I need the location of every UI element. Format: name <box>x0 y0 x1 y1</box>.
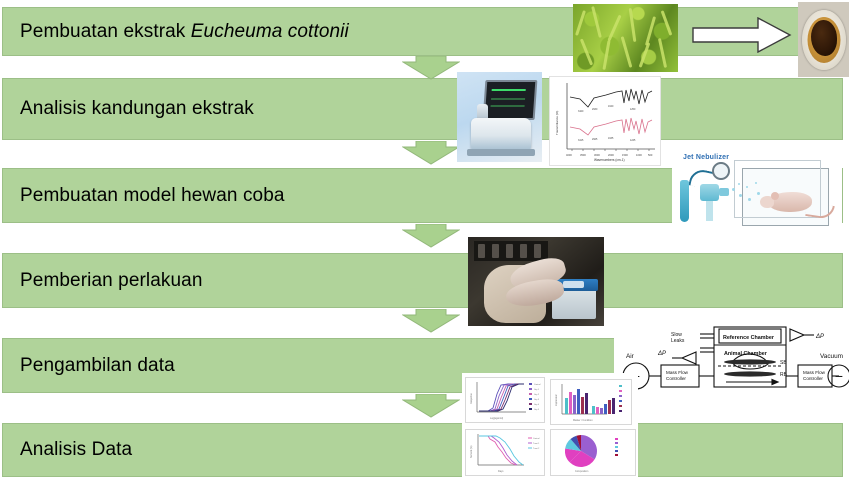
svg-text:1500: 1500 <box>622 153 628 157</box>
flow-step-1-label: Pembuatan ekstrak Eucheuma cottonii <box>3 21 349 43</box>
down-arrow-icon <box>402 141 460 165</box>
svg-text:3415: 3415 <box>578 139 584 142</box>
svg-text:1250: 1250 <box>630 108 636 111</box>
svg-text:1640: 1640 <box>608 105 614 108</box>
svg-text:2930: 2930 <box>592 108 598 111</box>
jet-nebulizer-label: Jet Nebulizer <box>683 154 729 161</box>
crude-extract-in-dish-photo <box>798 2 849 77</box>
svg-text:3000: 3000 <box>594 153 600 157</box>
svg-text:Survival (%): Survival (%) <box>470 445 473 458</box>
svg-text:4000: 4000 <box>566 153 572 157</box>
svg-text:Grp 5: Grp 5 <box>534 409 540 411</box>
vacuum-minus-sign: − <box>835 368 843 384</box>
vacuum-label: Vacuum <box>820 353 843 360</box>
flow-step-5-label: Pengambilan data <box>3 355 175 377</box>
svg-text:Days: Days <box>498 470 504 473</box>
flow-step-6[interactable]: Analisis Data <box>2 423 843 477</box>
whole-body-plethysmography-schematic: + − Air Vacuum Mass Flow Controller Mass… <box>614 318 849 402</box>
dose-response-sigmoid-curves: ControlGrp 1Grp 2 Grp 3Grp 4Grp 5 Respon… <box>465 377 545 423</box>
svg-text:Grp 2: Grp 2 <box>534 394 540 396</box>
svg-text:Response: Response <box>470 393 473 404</box>
reference-chamber-label: Reference Chamber <box>723 335 775 341</box>
svg-text:Grp 3: Grp 3 <box>534 399 540 401</box>
svg-text:Transmittance (%): Transmittance (%) <box>555 111 559 135</box>
svg-text:Control: Control <box>534 383 541 386</box>
ftir-spectrum-chart: 342029301640 341529251635 12501245 Trans… <box>549 76 661 166</box>
delta-p-right-label: ΔP <box>815 334 824 340</box>
svg-text:1000: 1000 <box>636 153 642 157</box>
animal-chamber-label: Animal Chamber <box>724 351 768 357</box>
flow-step-2[interactable]: Analisis kandungan ekstrak <box>2 78 843 140</box>
grouped-bar-comparison: Expression Marker / Condition <box>550 379 632 425</box>
flow-step-2-label: Analisis kandungan ekstrak <box>3 98 254 120</box>
svg-text:Treat 2: Treat 2 <box>533 447 540 450</box>
svg-text:Marker / Condition: Marker / Condition <box>573 419 593 422</box>
flow-step-6-label: Analisis Data <box>3 439 132 461</box>
svg-text:Controller: Controller <box>666 376 686 381</box>
gloved-hand-holding-mouse-photo <box>468 237 604 326</box>
svg-text:2925: 2925 <box>592 138 598 141</box>
right-arrow-icon <box>692 17 792 53</box>
delta-p-left-label: ΔP <box>657 351 666 357</box>
results-charts-collage: ControlGrp 1Grp 2 Grp 3Grp 4Grp 5 Respon… <box>462 373 638 477</box>
svg-text:Log[agonist]: Log[agonist] <box>490 417 503 420</box>
eucheuma-cottonii-seaweed-photo <box>573 4 678 72</box>
svg-text:Leaks: Leaks <box>671 338 685 344</box>
svg-text:Expression: Expression <box>555 394 558 406</box>
composition-pie-chart: Composition <box>550 429 636 476</box>
svg-text:1635: 1635 <box>608 137 614 140</box>
flow-step-4[interactable]: Pemberian perlakuan <box>2 253 843 308</box>
svg-text:Grp 4: Grp 4 <box>534 404 540 406</box>
mass-flow-controller-right-label: Mass Flow <box>803 370 826 375</box>
mass-flow-controller-left-label: Mass Flow <box>666 370 689 375</box>
pressure-gauge-icon <box>712 162 730 180</box>
svg-text:Controller: Controller <box>803 376 823 381</box>
svg-text:Wavenumbers (cm-1): Wavenumbers (cm-1) <box>594 158 625 162</box>
svg-text:Control: Control <box>533 437 540 440</box>
svg-text:Treat 1: Treat 1 <box>533 442 540 445</box>
sb-label: SB <box>780 360 787 366</box>
down-arrow-icon <box>402 309 460 333</box>
air-label: Air <box>626 353 635 360</box>
svg-text:Grp 1: Grp 1 <box>534 389 540 391</box>
down-arrow-icon <box>402 56 460 80</box>
svg-text:Composition: Composition <box>575 470 589 473</box>
svg-text:500: 500 <box>648 153 653 157</box>
svg-text:3420: 3420 <box>578 110 584 113</box>
rb-label: RB <box>780 372 788 378</box>
down-arrow-icon <box>402 394 460 418</box>
jet-nebulizer-exposure-chamber-illustration: Jet Nebulizer <box>672 152 842 237</box>
svg-text:2000: 2000 <box>608 153 614 157</box>
svg-text:1245: 1245 <box>630 139 636 142</box>
research-flow-diagram: Pembuatan ekstrak Eucheuma cottonii Anal… <box>0 0 849 477</box>
flow-step-3-label: Pembuatan model hewan coba <box>3 185 285 207</box>
down-arrow-icon <box>402 224 460 248</box>
flow-step-4-label: Pemberian perlakuan <box>3 270 203 292</box>
svg-text:3500: 3500 <box>580 153 586 157</box>
survival-curve: ControlTreat 1Treat 2 Survival (%) Days <box>465 429 545 476</box>
ftir-spectrometer-photo <box>457 72 542 162</box>
